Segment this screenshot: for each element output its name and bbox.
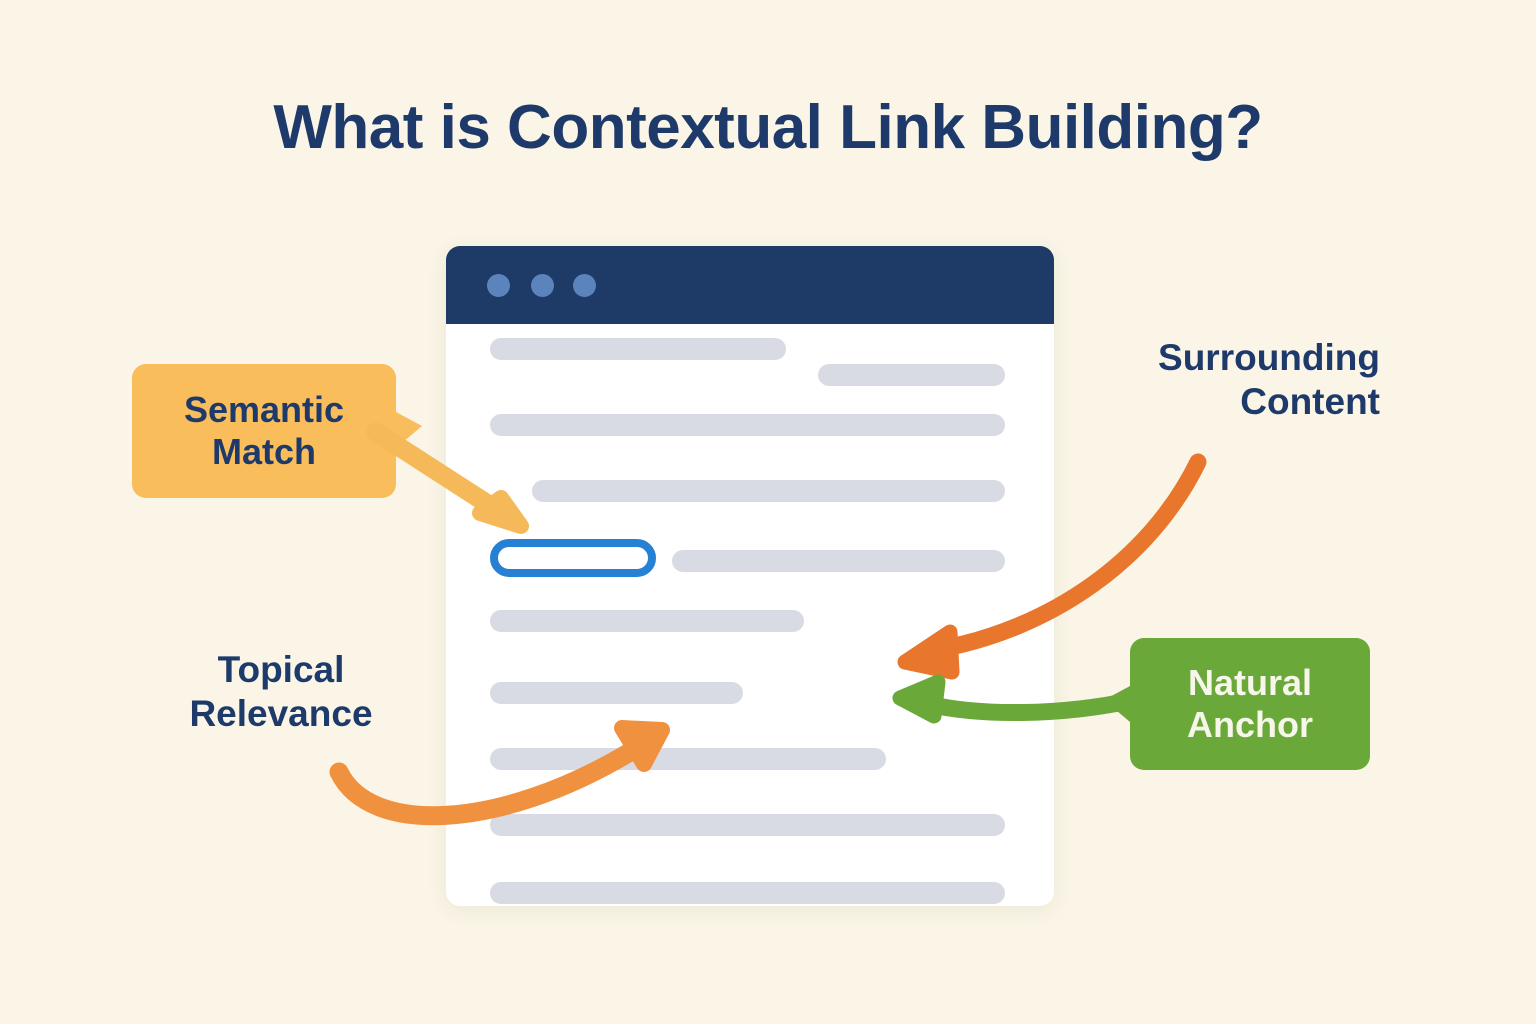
text-line-8 bbox=[490, 814, 1005, 836]
text-line-2 bbox=[490, 414, 1005, 436]
callout-semantic-match[interactable]: SemanticMatch bbox=[132, 364, 396, 498]
text-line-9 bbox=[490, 882, 1005, 904]
callout-natural-anchor-tail bbox=[1104, 686, 1130, 722]
text-line-4-right bbox=[672, 550, 1005, 572]
callout-natural-anchor-label: NaturalAnchor bbox=[1187, 662, 1313, 746]
link-pill-primary[interactable] bbox=[490, 539, 656, 577]
text-line-3 bbox=[532, 480, 1005, 502]
text-line-5 bbox=[490, 610, 804, 632]
callout-topical-relevance-label: TopicalRelevance bbox=[150, 648, 412, 737]
callout-semantic-match-label: SemanticMatch bbox=[184, 389, 344, 473]
callout-semantic-match-tail bbox=[396, 412, 422, 448]
article-content-area bbox=[446, 324, 1054, 906]
callout-surrounding-content: SurroundingContent bbox=[1040, 336, 1380, 425]
text-line-1a bbox=[490, 338, 786, 360]
browser-window-mockup bbox=[446, 246, 1054, 906]
text-line-7 bbox=[490, 748, 886, 770]
window-dot-green-icon[interactable] bbox=[573, 274, 596, 297]
window-dot-red-icon[interactable] bbox=[487, 274, 510, 297]
callout-topical-relevance: TopicalRelevance bbox=[150, 648, 412, 737]
browser-titlebar bbox=[446, 246, 1054, 324]
text-line-6-left bbox=[490, 682, 743, 704]
infographic-canvas: What is Contextual Link Building? Semant… bbox=[0, 0, 1536, 1024]
window-dot-yellow-icon[interactable] bbox=[531, 274, 554, 297]
callout-surrounding-content-label: SurroundingContent bbox=[1040, 336, 1380, 425]
page-title: What is Contextual Link Building? bbox=[0, 92, 1536, 163]
callout-natural-anchor[interactable]: NaturalAnchor bbox=[1130, 638, 1370, 770]
text-line-1b bbox=[818, 364, 1005, 386]
